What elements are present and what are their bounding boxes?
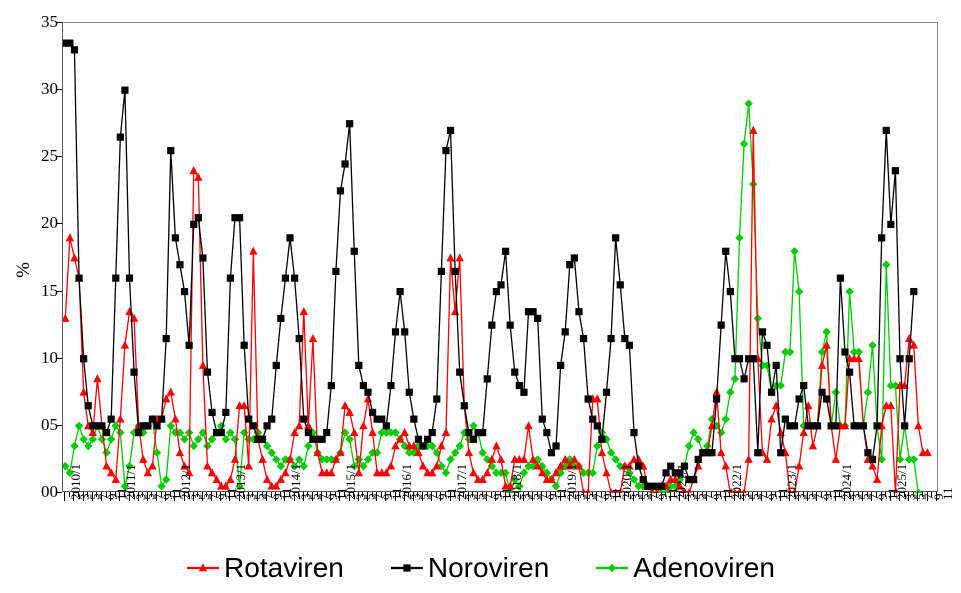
data-point bbox=[456, 442, 464, 450]
data-point bbox=[740, 375, 747, 382]
data-point bbox=[497, 455, 505, 463]
data-point bbox=[345, 435, 353, 443]
data-point bbox=[176, 261, 183, 268]
data-point bbox=[341, 401, 349, 409]
data-point bbox=[296, 335, 303, 342]
data-point bbox=[621, 335, 628, 342]
data-point bbox=[713, 395, 720, 402]
data-point bbox=[116, 415, 124, 423]
data-point bbox=[465, 429, 472, 436]
data-point bbox=[520, 389, 527, 396]
data-point bbox=[263, 475, 271, 483]
series-noroviren bbox=[63, 40, 917, 490]
data-point bbox=[823, 395, 830, 402]
data-point bbox=[580, 335, 587, 342]
data-point bbox=[286, 234, 293, 241]
data-point bbox=[85, 402, 92, 409]
data-point bbox=[901, 422, 908, 429]
data-point bbox=[401, 328, 408, 335]
data-point bbox=[429, 429, 436, 436]
legend-item-adenoviren[interactable]: Adenoviren bbox=[595, 552, 775, 584]
data-point bbox=[126, 275, 133, 282]
data-point bbox=[722, 415, 730, 423]
data-point bbox=[507, 322, 514, 329]
data-point bbox=[167, 388, 175, 396]
data-point bbox=[786, 348, 794, 356]
data-point bbox=[887, 221, 894, 228]
data-point bbox=[718, 322, 725, 329]
data-point bbox=[190, 166, 198, 174]
data-point bbox=[258, 455, 266, 463]
data-point bbox=[548, 449, 555, 456]
y-axis-tick-label: 25 bbox=[20, 147, 58, 164]
data-point bbox=[300, 416, 307, 423]
data-point bbox=[102, 462, 110, 470]
data-point bbox=[190, 221, 197, 228]
data-point bbox=[593, 442, 601, 450]
data-point bbox=[722, 248, 729, 255]
data-point bbox=[273, 362, 280, 369]
data-point bbox=[571, 254, 578, 261]
data-point bbox=[231, 455, 239, 463]
data-point bbox=[341, 160, 348, 167]
data-point bbox=[323, 429, 330, 436]
data-point bbox=[428, 442, 436, 450]
data-point bbox=[103, 429, 110, 436]
data-point bbox=[424, 436, 431, 443]
data-point bbox=[635, 463, 642, 470]
data-point bbox=[89, 435, 97, 443]
data-point bbox=[171, 415, 179, 423]
data-point bbox=[135, 429, 142, 436]
data-point bbox=[144, 422, 151, 429]
data-point bbox=[690, 476, 697, 483]
data-point bbox=[589, 416, 596, 423]
data-point bbox=[304, 442, 312, 450]
data-point bbox=[791, 422, 798, 429]
data-point bbox=[351, 248, 358, 255]
data-point bbox=[832, 422, 839, 429]
data-point bbox=[305, 429, 312, 436]
data-point bbox=[611, 455, 619, 463]
data-point bbox=[63, 314, 69, 322]
data-point bbox=[383, 422, 390, 429]
data-point bbox=[116, 428, 124, 436]
data-point bbox=[236, 214, 243, 221]
data-point bbox=[511, 369, 518, 376]
data-point bbox=[456, 253, 464, 261]
data-point bbox=[809, 441, 817, 449]
data-point bbox=[479, 429, 486, 436]
data-point bbox=[268, 416, 275, 423]
plot-area bbox=[62, 22, 938, 492]
data-point bbox=[461, 402, 468, 409]
data-point bbox=[767, 415, 775, 423]
data-point bbox=[75, 422, 83, 430]
data-point bbox=[442, 428, 450, 436]
data-point bbox=[263, 422, 270, 429]
data-point bbox=[267, 449, 275, 457]
data-point bbox=[222, 409, 229, 416]
data-point bbox=[663, 469, 670, 476]
data-point bbox=[727, 288, 734, 295]
data-point bbox=[470, 436, 477, 443]
data-point bbox=[378, 416, 385, 423]
data-point bbox=[837, 275, 844, 282]
data-point bbox=[832, 455, 840, 463]
data-point bbox=[387, 382, 394, 389]
data-point bbox=[763, 342, 770, 349]
data-point bbox=[112, 422, 120, 430]
data-point bbox=[694, 435, 702, 443]
data-point bbox=[291, 275, 298, 282]
legend-label: Noroviren bbox=[428, 552, 549, 584]
data-point bbox=[277, 315, 284, 322]
data-point bbox=[249, 247, 257, 255]
data-point bbox=[873, 475, 881, 483]
data-point bbox=[469, 422, 477, 430]
data-point bbox=[846, 369, 853, 376]
data-point bbox=[203, 462, 211, 470]
data-point bbox=[543, 429, 550, 436]
data-point bbox=[208, 409, 215, 416]
data-point bbox=[355, 455, 363, 463]
data-point bbox=[350, 428, 358, 436]
legend-marker-square-icon bbox=[390, 559, 424, 577]
series-canvas bbox=[63, 23, 939, 493]
data-point bbox=[272, 455, 280, 463]
data-point bbox=[465, 448, 473, 456]
data-point bbox=[190, 442, 198, 450]
data-point bbox=[735, 234, 743, 242]
data-point bbox=[603, 389, 610, 396]
data-point bbox=[626, 342, 633, 349]
data-point bbox=[777, 449, 784, 456]
data-point bbox=[708, 449, 715, 456]
data-point bbox=[162, 475, 170, 483]
data-point bbox=[70, 442, 78, 450]
data-point bbox=[415, 436, 422, 443]
data-point bbox=[400, 428, 408, 436]
data-point bbox=[437, 441, 445, 449]
data-point bbox=[218, 429, 225, 436]
legend-item-rotaviren[interactable]: Rotaviren bbox=[186, 552, 344, 584]
data-point bbox=[75, 275, 82, 282]
data-point bbox=[66, 40, 73, 47]
data-point bbox=[451, 449, 459, 457]
data-point bbox=[277, 462, 285, 470]
data-point bbox=[740, 140, 748, 148]
data-point bbox=[892, 167, 899, 174]
data-point bbox=[864, 388, 872, 396]
data-point bbox=[782, 416, 789, 423]
data-point bbox=[369, 409, 376, 416]
data-point bbox=[410, 416, 417, 423]
data-point bbox=[562, 328, 569, 335]
data-point bbox=[873, 422, 880, 429]
data-point bbox=[245, 416, 252, 423]
data-point bbox=[493, 288, 500, 295]
data-point bbox=[612, 234, 619, 241]
data-point bbox=[98, 422, 105, 429]
data-point bbox=[585, 395, 592, 402]
data-point bbox=[98, 435, 106, 443]
data-point bbox=[864, 449, 871, 456]
data-point bbox=[199, 361, 207, 369]
data-point bbox=[102, 449, 110, 457]
data-point bbox=[772, 401, 780, 409]
data-point bbox=[332, 268, 339, 275]
data-point bbox=[419, 462, 427, 470]
data-point bbox=[524, 421, 532, 429]
data-point bbox=[438, 268, 445, 275]
data-point bbox=[259, 436, 266, 443]
data-point bbox=[176, 448, 184, 456]
data-point bbox=[868, 341, 876, 349]
data-point bbox=[167, 147, 174, 154]
y-axis-tick-label: 05 bbox=[20, 416, 58, 433]
data-point bbox=[158, 416, 165, 423]
data-point bbox=[125, 307, 133, 315]
data-point bbox=[754, 314, 762, 322]
data-point bbox=[736, 355, 743, 362]
data-point bbox=[433, 395, 440, 402]
data-point bbox=[492, 441, 500, 449]
data-point bbox=[447, 127, 454, 134]
data-point bbox=[841, 348, 848, 355]
y-axis-tick-label: 00 bbox=[20, 483, 58, 500]
data-point bbox=[163, 335, 170, 342]
data-point bbox=[800, 382, 807, 389]
data-point bbox=[80, 355, 87, 362]
data-point bbox=[359, 462, 367, 470]
data-point bbox=[195, 214, 202, 221]
data-point bbox=[726, 388, 734, 396]
data-point bbox=[814, 422, 821, 429]
data-point bbox=[359, 421, 367, 429]
data-point bbox=[790, 247, 798, 255]
data-point bbox=[148, 462, 156, 470]
data-point bbox=[208, 435, 216, 443]
series-line bbox=[65, 104, 918, 493]
data-point bbox=[319, 436, 326, 443]
data-point bbox=[607, 449, 615, 457]
data-point bbox=[108, 416, 115, 423]
data-point bbox=[451, 307, 459, 315]
data-point bbox=[860, 422, 867, 429]
data-point bbox=[744, 99, 752, 107]
data-point bbox=[172, 234, 179, 241]
data-point bbox=[530, 308, 537, 315]
data-point bbox=[910, 288, 917, 295]
data-point bbox=[488, 322, 495, 329]
data-point bbox=[226, 428, 234, 436]
data-point bbox=[516, 382, 523, 389]
data-point bbox=[66, 233, 74, 241]
data-point bbox=[534, 315, 541, 322]
data-point bbox=[203, 442, 211, 450]
data-point bbox=[717, 428, 725, 436]
data-point bbox=[79, 435, 87, 443]
data-point bbox=[231, 435, 239, 443]
data-point bbox=[387, 462, 395, 470]
data-point bbox=[180, 435, 188, 443]
data-point bbox=[845, 287, 853, 295]
data-point bbox=[763, 361, 771, 369]
data-point bbox=[396, 288, 403, 295]
data-point bbox=[882, 261, 890, 269]
data-point bbox=[602, 468, 610, 476]
data-point bbox=[194, 435, 202, 443]
data-point bbox=[240, 428, 248, 436]
data-point bbox=[594, 422, 601, 429]
data-point bbox=[759, 328, 766, 335]
data-point bbox=[456, 369, 463, 376]
data-point bbox=[822, 328, 830, 336]
chart-root: % 0005101520253035 2010/13579112011/1357… bbox=[0, 0, 961, 593]
y-axis-tick-label: 30 bbox=[20, 80, 58, 97]
data-point bbox=[749, 180, 757, 188]
data-point bbox=[93, 374, 101, 382]
data-point bbox=[282, 275, 289, 282]
data-point bbox=[689, 428, 697, 436]
data-point bbox=[355, 362, 362, 369]
data-point bbox=[717, 448, 725, 456]
data-point bbox=[483, 468, 491, 476]
data-point bbox=[566, 261, 573, 268]
data-point bbox=[70, 253, 78, 261]
data-point bbox=[181, 288, 188, 295]
data-point bbox=[598, 448, 606, 456]
data-point bbox=[84, 442, 92, 450]
data-point bbox=[539, 416, 546, 423]
data-point bbox=[337, 187, 344, 194]
data-point bbox=[295, 455, 303, 463]
data-point bbox=[883, 127, 890, 134]
legend-marker-diamond-icon bbox=[595, 559, 629, 577]
data-point bbox=[446, 455, 454, 463]
data-point bbox=[630, 429, 637, 436]
data-point bbox=[896, 355, 903, 362]
data-point bbox=[153, 422, 160, 429]
data-point bbox=[818, 361, 826, 369]
data-point bbox=[121, 341, 129, 349]
data-point bbox=[575, 308, 582, 315]
data-point bbox=[878, 234, 885, 241]
x-axis-tick-label: 11 bbox=[941, 487, 954, 500]
data-point bbox=[309, 334, 317, 342]
data-point bbox=[112, 275, 119, 282]
data-point bbox=[469, 468, 477, 476]
data-point bbox=[832, 388, 840, 396]
data-point bbox=[263, 442, 271, 450]
data-point bbox=[818, 389, 825, 396]
data-point bbox=[914, 421, 922, 429]
data-point bbox=[552, 442, 559, 449]
data-point bbox=[368, 428, 376, 436]
legend-label: Adenoviren bbox=[633, 552, 775, 584]
data-point bbox=[442, 469, 450, 477]
data-point bbox=[406, 389, 413, 396]
data-point bbox=[750, 355, 757, 362]
data-point bbox=[906, 355, 913, 362]
data-point bbox=[364, 455, 372, 463]
data-point bbox=[442, 147, 449, 154]
data-point bbox=[167, 422, 175, 430]
data-point bbox=[484, 375, 491, 382]
data-point bbox=[222, 435, 230, 443]
series-rotaviren bbox=[63, 126, 932, 493]
data-point bbox=[328, 382, 335, 389]
data-point bbox=[346, 120, 353, 127]
y-axis-tick-label: 10 bbox=[20, 349, 58, 366]
data-point bbox=[241, 342, 248, 349]
data-point bbox=[300, 307, 308, 315]
chart-legend: RotavirenNorovirenAdenoviren bbox=[0, 546, 961, 590]
data-point bbox=[905, 334, 913, 342]
data-point bbox=[392, 328, 399, 335]
data-point bbox=[731, 375, 739, 383]
data-point bbox=[607, 335, 614, 342]
data-point bbox=[157, 482, 165, 490]
data-point bbox=[446, 253, 454, 261]
y-axis-tick-label: 35 bbox=[20, 13, 58, 30]
data-point bbox=[364, 389, 371, 396]
data-point bbox=[478, 449, 486, 457]
legend-label: Rotaviren bbox=[224, 552, 344, 584]
data-point bbox=[360, 382, 367, 389]
data-point bbox=[768, 389, 775, 396]
data-point bbox=[139, 455, 147, 463]
data-point bbox=[685, 442, 693, 450]
data-point bbox=[217, 422, 225, 430]
y-axis-tick-label: 15 bbox=[20, 282, 58, 299]
series-line bbox=[65, 130, 927, 493]
legend-item-noroviren[interactable]: Noroviren bbox=[390, 552, 549, 584]
data-point bbox=[121, 87, 128, 94]
data-point bbox=[186, 342, 193, 349]
data-point bbox=[149, 416, 156, 423]
data-point bbox=[695, 456, 702, 463]
data-point bbox=[557, 362, 564, 369]
data-point bbox=[796, 395, 803, 402]
data-point bbox=[773, 362, 780, 369]
data-point bbox=[640, 476, 647, 483]
data-point bbox=[452, 268, 459, 275]
data-point bbox=[199, 254, 206, 261]
data-point bbox=[204, 369, 211, 376]
data-point bbox=[71, 46, 78, 53]
data-point bbox=[391, 428, 399, 436]
data-point bbox=[754, 449, 761, 456]
data-point bbox=[617, 281, 624, 288]
legend-marker-triangle-icon bbox=[186, 559, 220, 577]
data-point bbox=[130, 369, 137, 376]
data-point bbox=[107, 435, 115, 443]
data-point bbox=[869, 456, 876, 463]
data-point bbox=[598, 436, 605, 443]
data-point bbox=[497, 281, 504, 288]
data-point bbox=[227, 275, 234, 282]
data-point bbox=[250, 422, 257, 429]
data-point bbox=[795, 287, 803, 295]
data-point bbox=[419, 442, 426, 449]
data-point bbox=[117, 134, 124, 141]
data-point bbox=[910, 455, 918, 463]
data-point bbox=[502, 248, 509, 255]
y-axis-tick-label: 20 bbox=[20, 214, 58, 231]
data-point bbox=[744, 455, 752, 463]
